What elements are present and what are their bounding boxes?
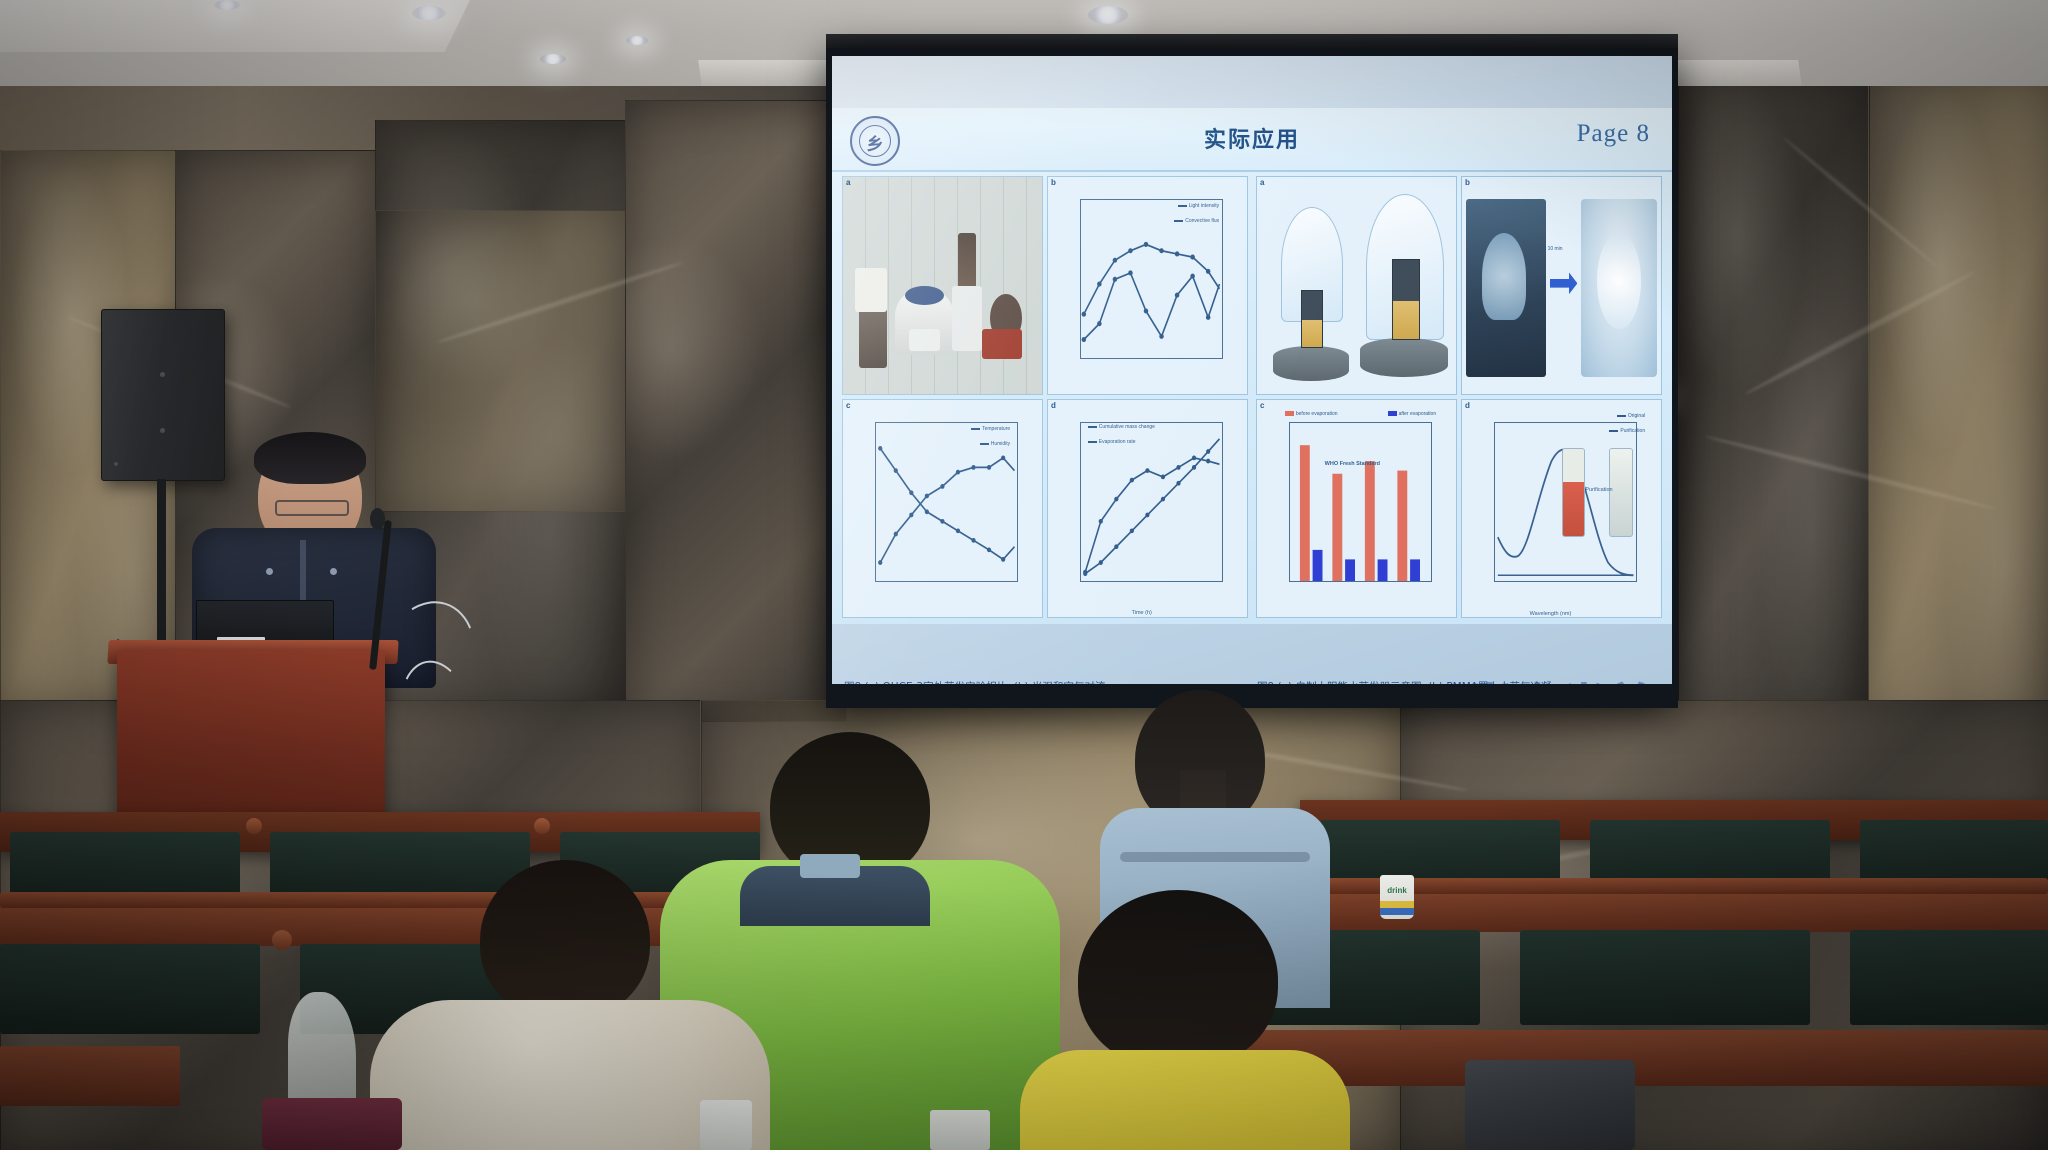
chart-annotation: Purification (1585, 487, 1612, 493)
legend-label: Light intensity (1189, 203, 1220, 209)
fig8-panel-b-chart: b (1047, 176, 1248, 395)
fig8-panel-c-chart: c (842, 399, 1043, 618)
legend-label: before evaporation (1296, 411, 1338, 417)
microphone-head (370, 508, 385, 530)
pa-speaker (101, 309, 225, 481)
yellow-top (1020, 1050, 1350, 1150)
arrow-label: 10 min (1548, 246, 1563, 252)
panel-label: d (1465, 401, 1470, 410)
panel-label: a (846, 178, 850, 187)
panel-label: c (1260, 401, 1264, 410)
slide-watermark: 崇真尚美 (1468, 674, 1656, 684)
figure-9-caption: 图9 (a) 自制太阳能水蒸发器示意图, (b) PMMA罩上水蒸气冷凝 相片,… (1257, 680, 1660, 684)
wall-panel (375, 210, 627, 512)
ceiling-light (214, 0, 240, 10)
x-axis-label: Time (h) (1132, 610, 1152, 616)
desk-row-front (0, 1046, 180, 1106)
figure-8: a (842, 176, 1248, 618)
fig9-panel-b-photo: b 10 min (1461, 176, 1662, 395)
bench-arm-knob (534, 818, 550, 834)
slide-header: 乡 实际应用 Page 8 (832, 108, 1672, 172)
head (1078, 890, 1278, 1070)
legend-label: Purification (1620, 428, 1645, 434)
panel-label: a (1260, 178, 1264, 187)
seat-cushion[interactable] (1520, 930, 1810, 1025)
fig8-panel-d-chart: d (1047, 399, 1248, 618)
cup-label: drink (1380, 886, 1414, 895)
paper-cup[interactable]: drink (1380, 875, 1414, 919)
ceiling-light (540, 54, 566, 64)
wall-panel (1868, 70, 2048, 732)
x-axis-label: Wavelength (nm) (1530, 611, 1572, 617)
head (480, 860, 650, 1020)
wall-panel (1678, 70, 1870, 732)
fig9-panel-d-chart: d Original Purificati (1461, 399, 1662, 618)
presenter-glasses-icon (275, 500, 349, 516)
figure-8-caption: 图8 (a) OHCE-3室外蒸发实验相片, (b) 光强和空气对流, (c) … (844, 680, 1247, 684)
fig9-panel-c-chart: c (1256, 399, 1457, 618)
backpack[interactable] (1465, 1060, 1635, 1150)
bench-arm-knob (272, 930, 292, 950)
bench-arm-knob (246, 818, 262, 834)
paper-stack[interactable] (930, 1110, 990, 1150)
caption-line: 图8 (a) OHCE-3室外蒸发实验相片, (b) 光强和空气对流, (844, 680, 1247, 684)
chart-annotation: WHO Fresh Standard (1325, 461, 1380, 467)
fig8-panel-a-photo: a (842, 176, 1043, 395)
seat-cushion[interactable] (0, 944, 260, 1034)
panel-label: b (1465, 178, 1470, 187)
figure-9: a b (1256, 176, 1662, 618)
legend-label: Cumulative mass change (1099, 424, 1155, 430)
panel-label: d (1051, 401, 1056, 410)
legend-label: Evaporation rate (1099, 439, 1136, 445)
fig9-panel-a-schematic: a (1256, 176, 1457, 395)
projection-screen: 乡 实际应用 Page 8 a (832, 56, 1672, 684)
desk-row-front (1240, 1030, 2048, 1086)
presenter-hair (254, 432, 366, 484)
panel-label: c (846, 401, 850, 410)
cup[interactable] (700, 1100, 752, 1150)
legend-label: after evaporation (1399, 411, 1437, 417)
slide: 乡 实际应用 Page 8 a (832, 108, 1672, 624)
legend-label: Convective flux (1185, 218, 1219, 224)
page-number: Page 8 (1577, 120, 1650, 148)
legend-label: Humidity (991, 441, 1010, 447)
ceiling-light (1088, 6, 1128, 24)
legend-label: Temperature (982, 426, 1010, 432)
legend-label: Original (1628, 413, 1645, 419)
handbag[interactable] (262, 1098, 402, 1150)
panel-label: b (1051, 178, 1056, 187)
slide-title: 实际应用 (832, 122, 1672, 154)
lecture-hall-scene: 乡 实际应用 Page 8 a (0, 0, 2048, 1150)
slide-captions: 图8 (a) OHCE-3室外蒸发实验相片, (b) 光强和空气对流, (c) … (832, 676, 1672, 684)
ceiling-light (412, 6, 446, 20)
slide-figures: a (832, 170, 1672, 624)
seat-cushion[interactable] (1850, 930, 2048, 1025)
ceiling-light (626, 36, 648, 45)
wall-panel (625, 100, 847, 722)
